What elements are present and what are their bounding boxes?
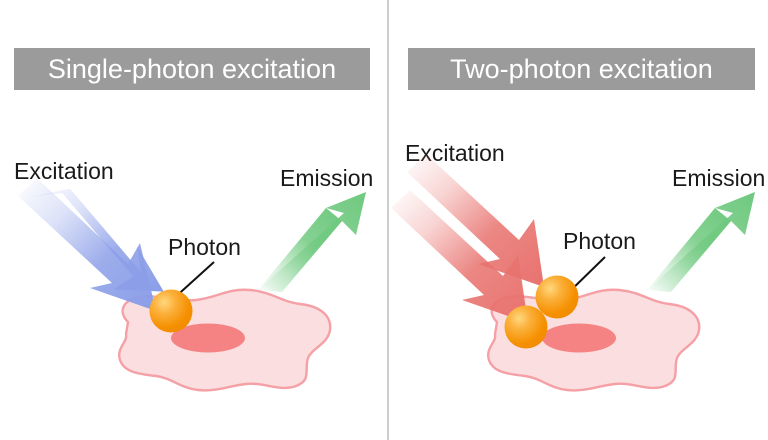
panel-divider: [387, 0, 389, 440]
panel-single-photon: Single-photon excitation Excitation Emis…: [0, 0, 388, 440]
photon-sphere-single: [150, 290, 193, 333]
excitation-arrow-single-shape: [18, 178, 156, 311]
emission-arrow-single: [258, 192, 366, 292]
two-photon-graphic: [389, 0, 768, 440]
panel-two-photon: Two-photon excitation Excitation Emissio…: [389, 0, 768, 440]
photon-sphere-two-b: [505, 306, 548, 349]
cell-nucleus-two: [542, 324, 616, 353]
emission-arrow-two: [647, 192, 755, 292]
single-photon-graphic: [0, 0, 388, 440]
photon-sphere-two-a: [536, 276, 579, 319]
diagram-canvas: Single-photon excitation Excitation Emis…: [0, 0, 768, 440]
